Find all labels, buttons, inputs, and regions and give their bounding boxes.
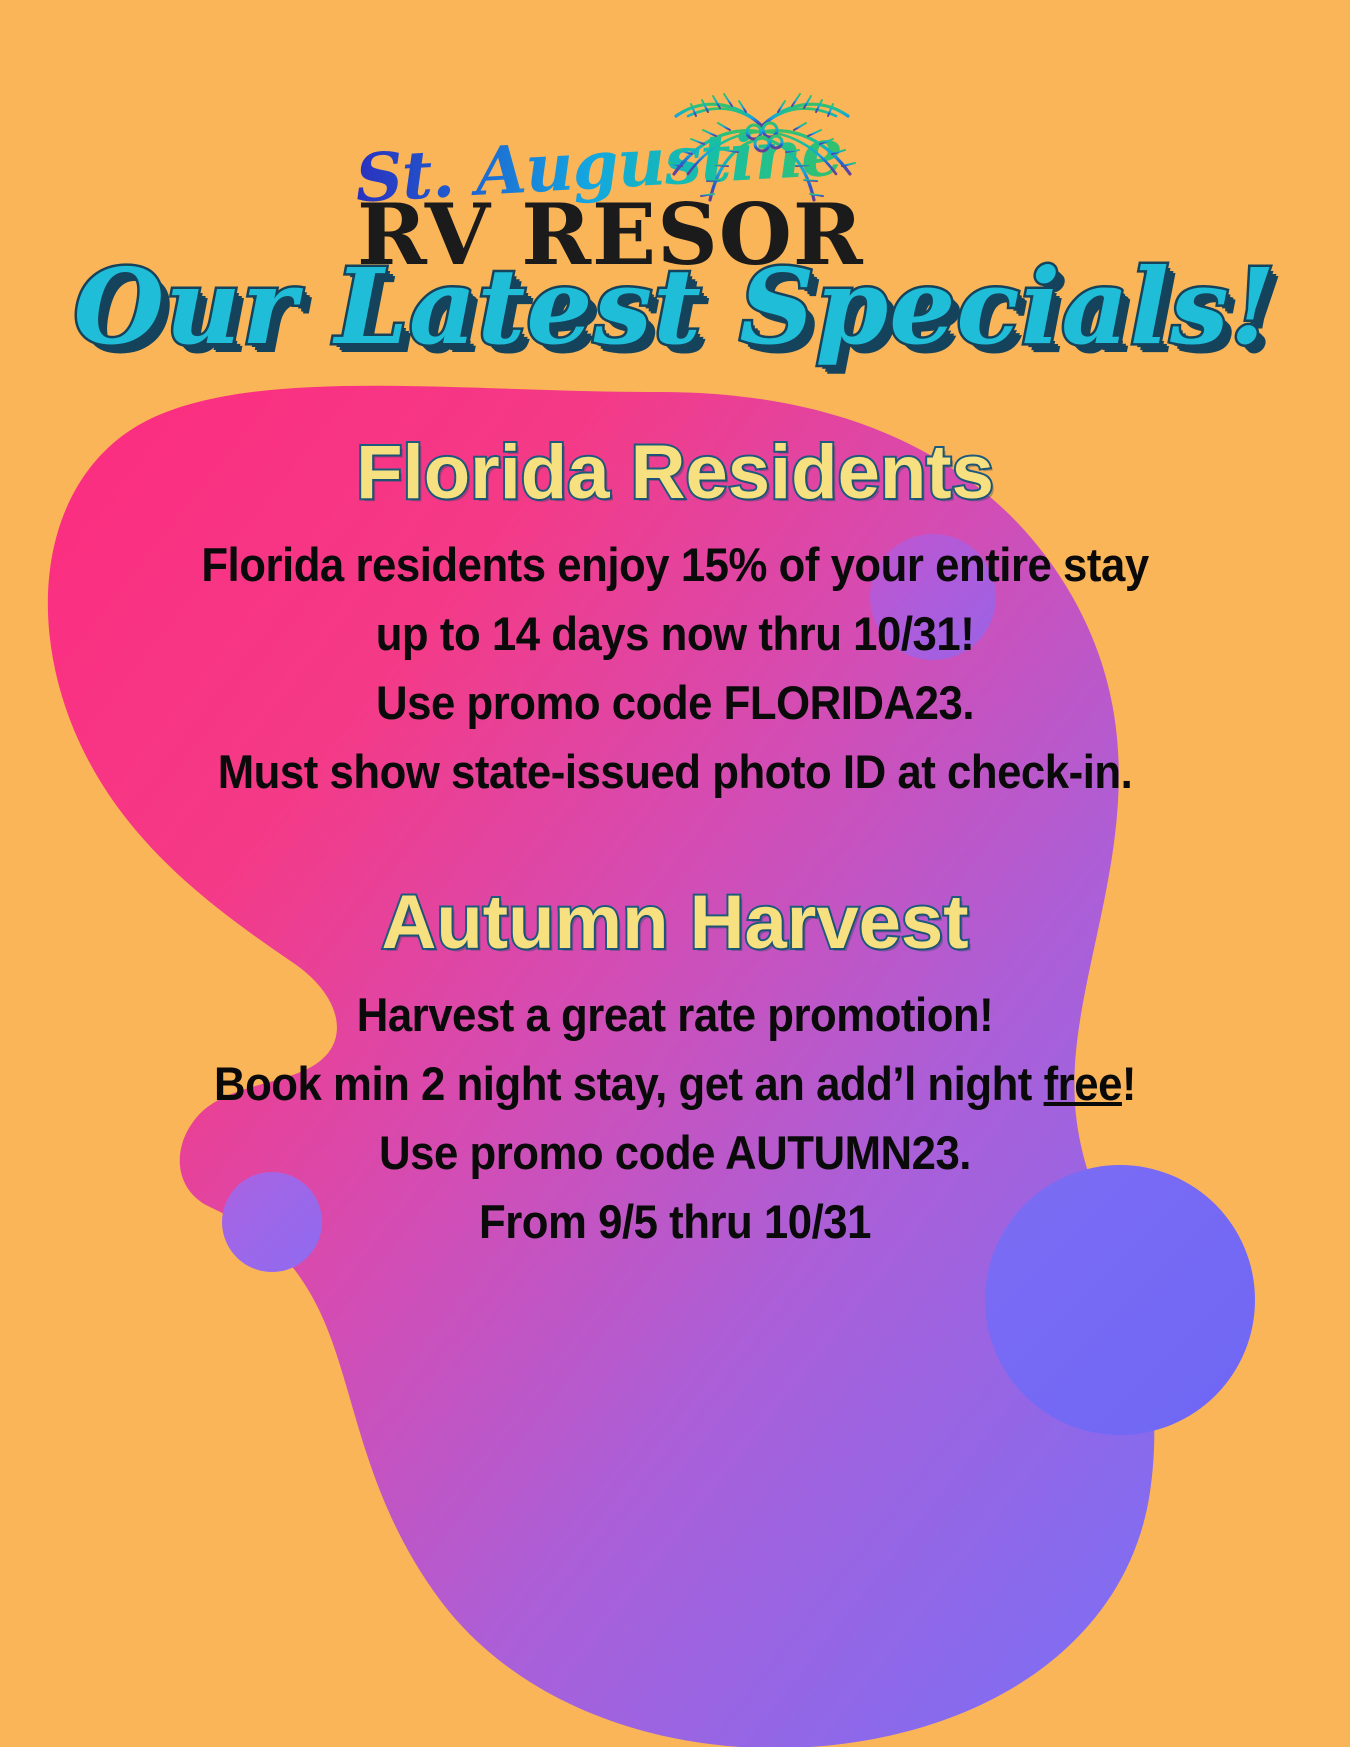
autumn-free-emphasis: free xyxy=(1044,1057,1122,1110)
autumn-line-4: From 9/5 thru 10/31 xyxy=(47,1187,1303,1256)
florida-line-2: up to 14 days now thru 10/31! xyxy=(47,599,1303,668)
special-body-florida: Florida residents enjoy 15% of your enti… xyxy=(47,530,1303,806)
florida-line-3: Use promo code FLORIDA23. xyxy=(47,668,1303,737)
autumn-line-2: Book min 2 night stay, get an add’l nigh… xyxy=(47,1049,1303,1118)
specials-poster: St. Augustine RV RESORT xyxy=(0,0,1350,1747)
autumn-line-1: Harvest a great rate promotion! xyxy=(47,980,1303,1049)
special-florida-residents: Florida Residents Florida residents enjo… xyxy=(0,430,1350,806)
special-heading-florida: Florida Residents xyxy=(0,430,1350,516)
florida-line-1: Florida residents enjoy 15% of your enti… xyxy=(47,530,1303,599)
autumn-line-2-prefix: Book min 2 night stay, get an add’l nigh… xyxy=(214,1057,1044,1110)
page-title: Our Latest Specials! xyxy=(0,252,1350,362)
resort-logo: St. Augustine RV RESORT xyxy=(0,38,1350,258)
specials-content: Florida Residents Florida residents enjo… xyxy=(0,430,1350,1256)
section-spacer xyxy=(0,806,1350,880)
autumn-line-3: Use promo code AUTUMN23. xyxy=(47,1118,1303,1187)
florida-line-4: Must show state-issued photo ID at check… xyxy=(47,737,1303,806)
autumn-line-2-suffix: ! xyxy=(1122,1057,1136,1110)
special-autumn-harvest: Autumn Harvest Harvest a great rate prom… xyxy=(0,880,1350,1256)
special-body-autumn: Harvest a great rate promotion! Book min… xyxy=(47,980,1303,1256)
special-heading-autumn: Autumn Harvest xyxy=(0,880,1350,966)
